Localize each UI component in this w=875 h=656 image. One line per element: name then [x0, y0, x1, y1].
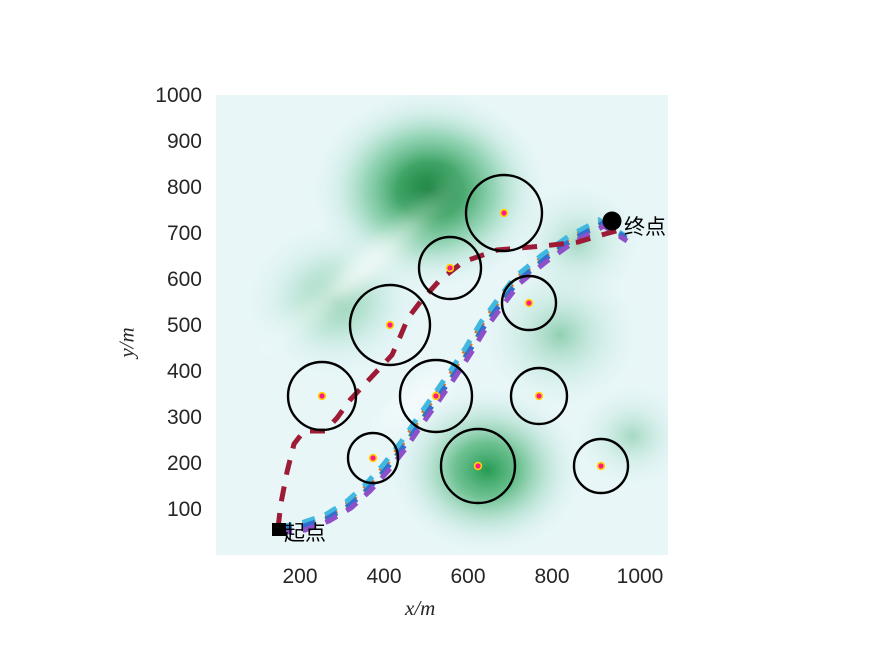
y-tick-800: 800 — [150, 176, 202, 200]
x-axis-title: x/m — [405, 596, 435, 621]
y-axis-title: y/m — [115, 327, 140, 357]
plot-area — [216, 90, 692, 556]
end-point-label: 终点 — [624, 211, 666, 241]
y-tick-600: 600 — [150, 268, 202, 292]
x-tick-400: 400 — [366, 565, 401, 589]
y-tick-100: 100 — [150, 498, 202, 522]
y-tick-1000: 1000 — [150, 84, 202, 108]
y-tick-200: 200 — [150, 452, 202, 476]
x-tick-800: 800 — [534, 565, 569, 589]
start-point-label: 起点 — [284, 517, 326, 547]
x-tick-1000: 1000 — [617, 565, 664, 589]
end-marker — [603, 212, 622, 231]
y-tick-700: 700 — [150, 222, 202, 246]
y-tick-500: 500 — [150, 314, 202, 338]
y-tick-400: 400 — [150, 360, 202, 384]
y-tick-300: 300 — [150, 406, 202, 430]
x-tick-200: 200 — [282, 565, 317, 589]
y-tick-900: 900 — [150, 130, 202, 154]
figure-root: 1000 900 800 700 600 500 400 300 200 100… — [0, 0, 875, 656]
x-tick-600: 600 — [450, 565, 485, 589]
